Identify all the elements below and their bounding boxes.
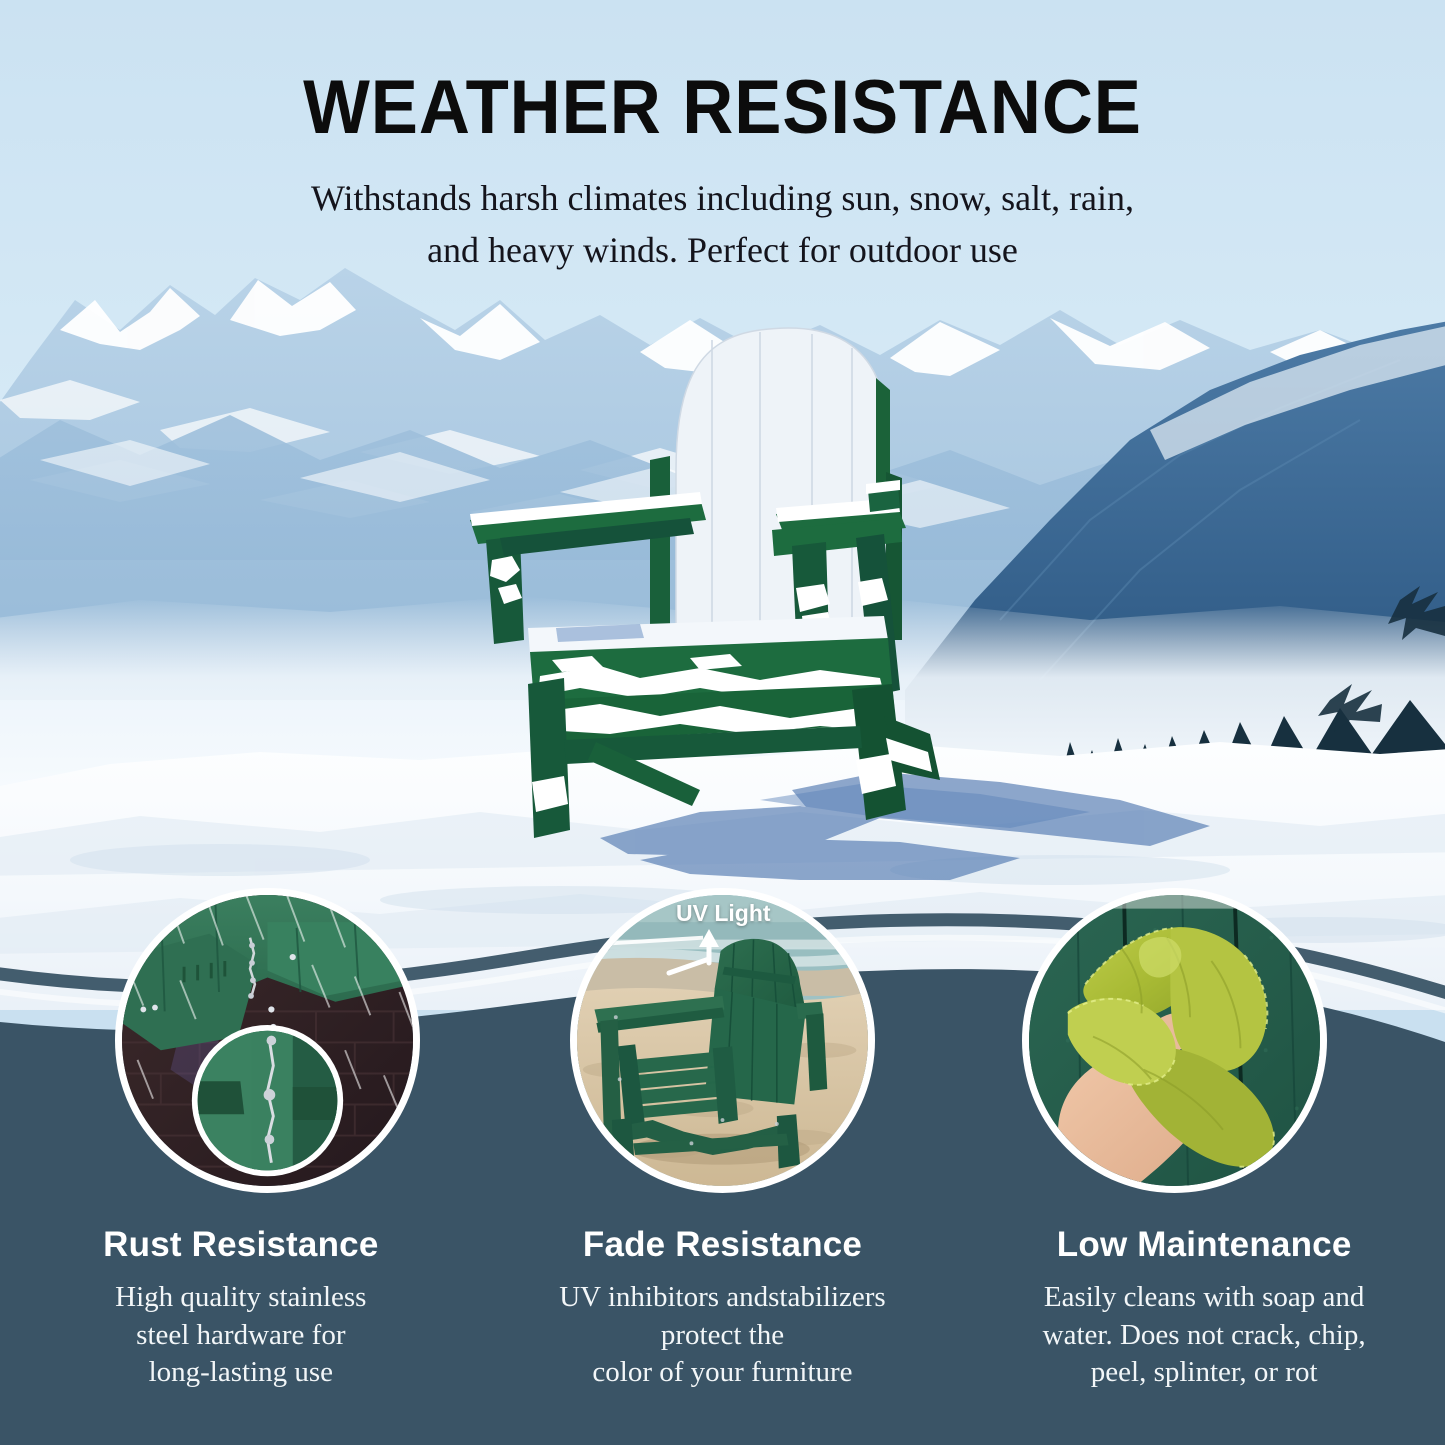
feature-card-fade-resistance: Fade Resistance UV inhibitors andstabili… [482, 1225, 964, 1392]
infographic-canvas: WEATHER RESISTANCE Withstands harsh clim… [0, 0, 1445, 1445]
feature-body-line2: protect the [661, 1319, 784, 1351]
feature-body-line3: peel, splinter, or rot [1091, 1356, 1318, 1388]
feature-body-line3: color of your furniture [592, 1356, 852, 1388]
rust-resistance-illustration [122, 895, 413, 1186]
feature-body-line1: Easily cleans with soap and [1044, 1281, 1365, 1313]
feature-body-line3: long-lasting use [149, 1356, 333, 1388]
feature-card-rust-resistance: Rust Resistance High quality stainless s… [0, 1225, 482, 1392]
feature-body-line1: High quality stainless [115, 1281, 366, 1313]
feature-title-rust-resistance: Rust Resistance [22, 1225, 460, 1265]
page-subtitle: Withstands harsh climates including sun,… [0, 172, 1445, 276]
feature-title-low-maintenance: Low Maintenance [985, 1225, 1423, 1265]
low-maintenance-illustration [1029, 895, 1320, 1186]
feature-body-low-maintenance: Easily cleans with soap and water. Does … [985, 1279, 1423, 1392]
uv-light-label: UV Light [676, 900, 771, 927]
feature-body-line2: water. Does not crack, chip, [1043, 1319, 1366, 1351]
feature-body-line2: steel hardware for [136, 1319, 345, 1351]
page-subtitle-line1: Withstands harsh climates including sun,… [0, 172, 1445, 224]
feature-image-low-maintenance [1022, 888, 1327, 1193]
page-title: WEATHER RESISTANCE [51, 70, 1395, 146]
feature-image-fade-resistance [570, 888, 875, 1193]
uv-light-arrow-icon [663, 929, 739, 991]
page-subtitle-line2: and heavy winds. Perfect for outdoor use [0, 224, 1445, 276]
feature-card-low-maintenance: Low Maintenance Easily cleans with soap … [963, 1225, 1445, 1392]
feature-title-fade-resistance: Fade Resistance [504, 1225, 942, 1265]
feature-body-rust-resistance: High quality stainless steel hardware fo… [22, 1279, 460, 1392]
feature-captions: Rust Resistance High quality stainless s… [0, 1225, 1445, 1392]
feature-body-line1: UV inhibitors andstabilizers [559, 1281, 885, 1313]
header-block: WEATHER RESISTANCE Withstands harsh clim… [0, 0, 1445, 276]
feature-image-rust-resistance [115, 888, 420, 1193]
feature-body-fade-resistance: UV inhibitors andstabilizers protect the… [504, 1279, 942, 1392]
